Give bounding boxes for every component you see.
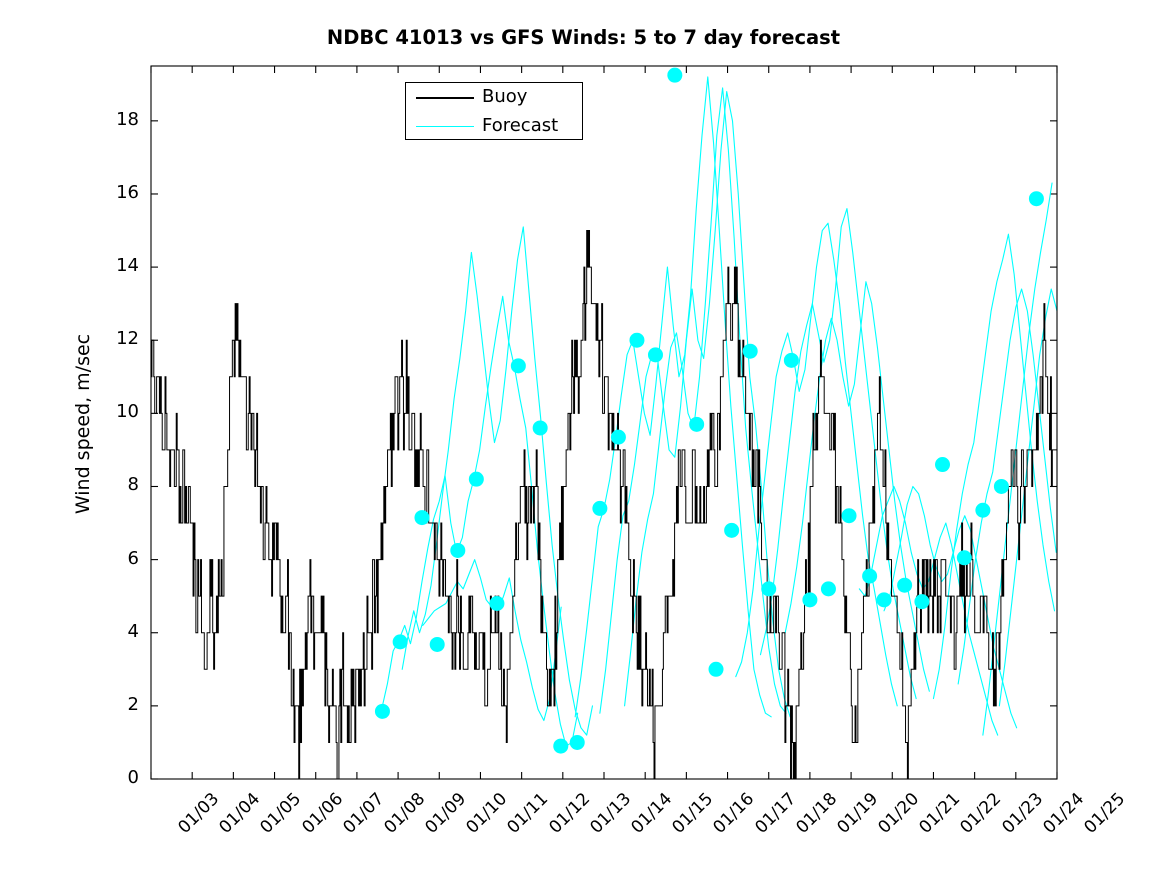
y-tick-label: 10 — [99, 401, 139, 422]
forecast-scatter-point — [611, 430, 626, 445]
forecast-scatter-point — [761, 581, 776, 596]
legend-swatch-buoy — [416, 97, 474, 99]
forecast-scatter-point — [877, 592, 892, 607]
y-tick-label: 12 — [99, 328, 139, 349]
forecast-run-line — [402, 227, 592, 735]
y-tick-label: 2 — [99, 694, 139, 715]
forecast-scatter-point — [667, 68, 682, 83]
forecast-scatter-point — [511, 358, 526, 373]
y-tick-label: 16 — [99, 182, 139, 203]
forecast-scatter-point — [570, 735, 585, 750]
forecast-scatter-point — [914, 594, 929, 609]
forecast-scatter-point — [592, 501, 607, 516]
forecast-scatter-point — [784, 353, 799, 368]
forecast-scatter-point — [375, 704, 390, 719]
forecast-scatter-point — [469, 472, 484, 487]
forecast-scatter-point — [957, 550, 972, 565]
legend-entry-forecast: Forecast — [406, 112, 584, 141]
legend-label-forecast: Forecast — [482, 115, 558, 136]
forecast-scatter-point — [935, 457, 950, 472]
forecast-run-line — [600, 92, 790, 717]
forecast-run-line — [760, 209, 916, 699]
y-tick-label: 14 — [99, 255, 139, 276]
forecast-scatter-point — [724, 523, 739, 538]
forecast-scatter-point — [648, 347, 663, 362]
forecast-scatter-point — [821, 581, 836, 596]
forecast-run-line — [785, 282, 929, 692]
chart-figure: NDBC 41013 vs GFS Winds: 5 to 7 day fore… — [0, 0, 1167, 875]
forecast-scatter-point — [450, 543, 465, 558]
y-tick-label: 0 — [99, 767, 139, 788]
legend-swatch-forecast — [416, 126, 474, 127]
legend-entry-buoy: Buoy — [406, 83, 584, 112]
forecast-scatter-point — [743, 344, 758, 359]
forecast-scatter-point — [489, 596, 504, 611]
forecast-run-line — [625, 88, 786, 713]
y-tick-label: 8 — [99, 474, 139, 495]
forecast-scatter-point — [842, 508, 857, 523]
chart-legend: Buoy Forecast — [405, 82, 583, 140]
forecast-scatter-point — [689, 417, 704, 432]
forecast-scatter-point — [975, 503, 990, 518]
axes-frame-layer — [151, 66, 1057, 779]
legend-label-buoy: Buoy — [482, 86, 527, 107]
forecast-scatter-point — [1029, 191, 1044, 206]
y-tick-label: 6 — [99, 548, 139, 569]
forecast-scatter-point — [897, 578, 912, 593]
forecast-scatter-point — [393, 634, 408, 649]
y-axis-label: Wind speed, m/sec — [72, 124, 94, 724]
forecast-scatter-point — [629, 333, 644, 348]
forecast-run-line — [382, 296, 578, 746]
y-tick-label: 4 — [99, 621, 139, 642]
forecast-scatter-point — [709, 662, 724, 677]
forecast-scatter-point — [994, 479, 1009, 494]
forecast-scatter-point — [553, 739, 568, 754]
forecast-scatter-point — [414, 510, 429, 525]
axes-layer — [151, 66, 1057, 779]
forecast-scatter-point — [430, 637, 445, 652]
forecast-scatter-point — [802, 592, 817, 607]
forecast-scatter-point — [533, 420, 548, 435]
y-tick-label: 18 — [99, 109, 139, 130]
forecast-scatter-point — [862, 569, 877, 584]
